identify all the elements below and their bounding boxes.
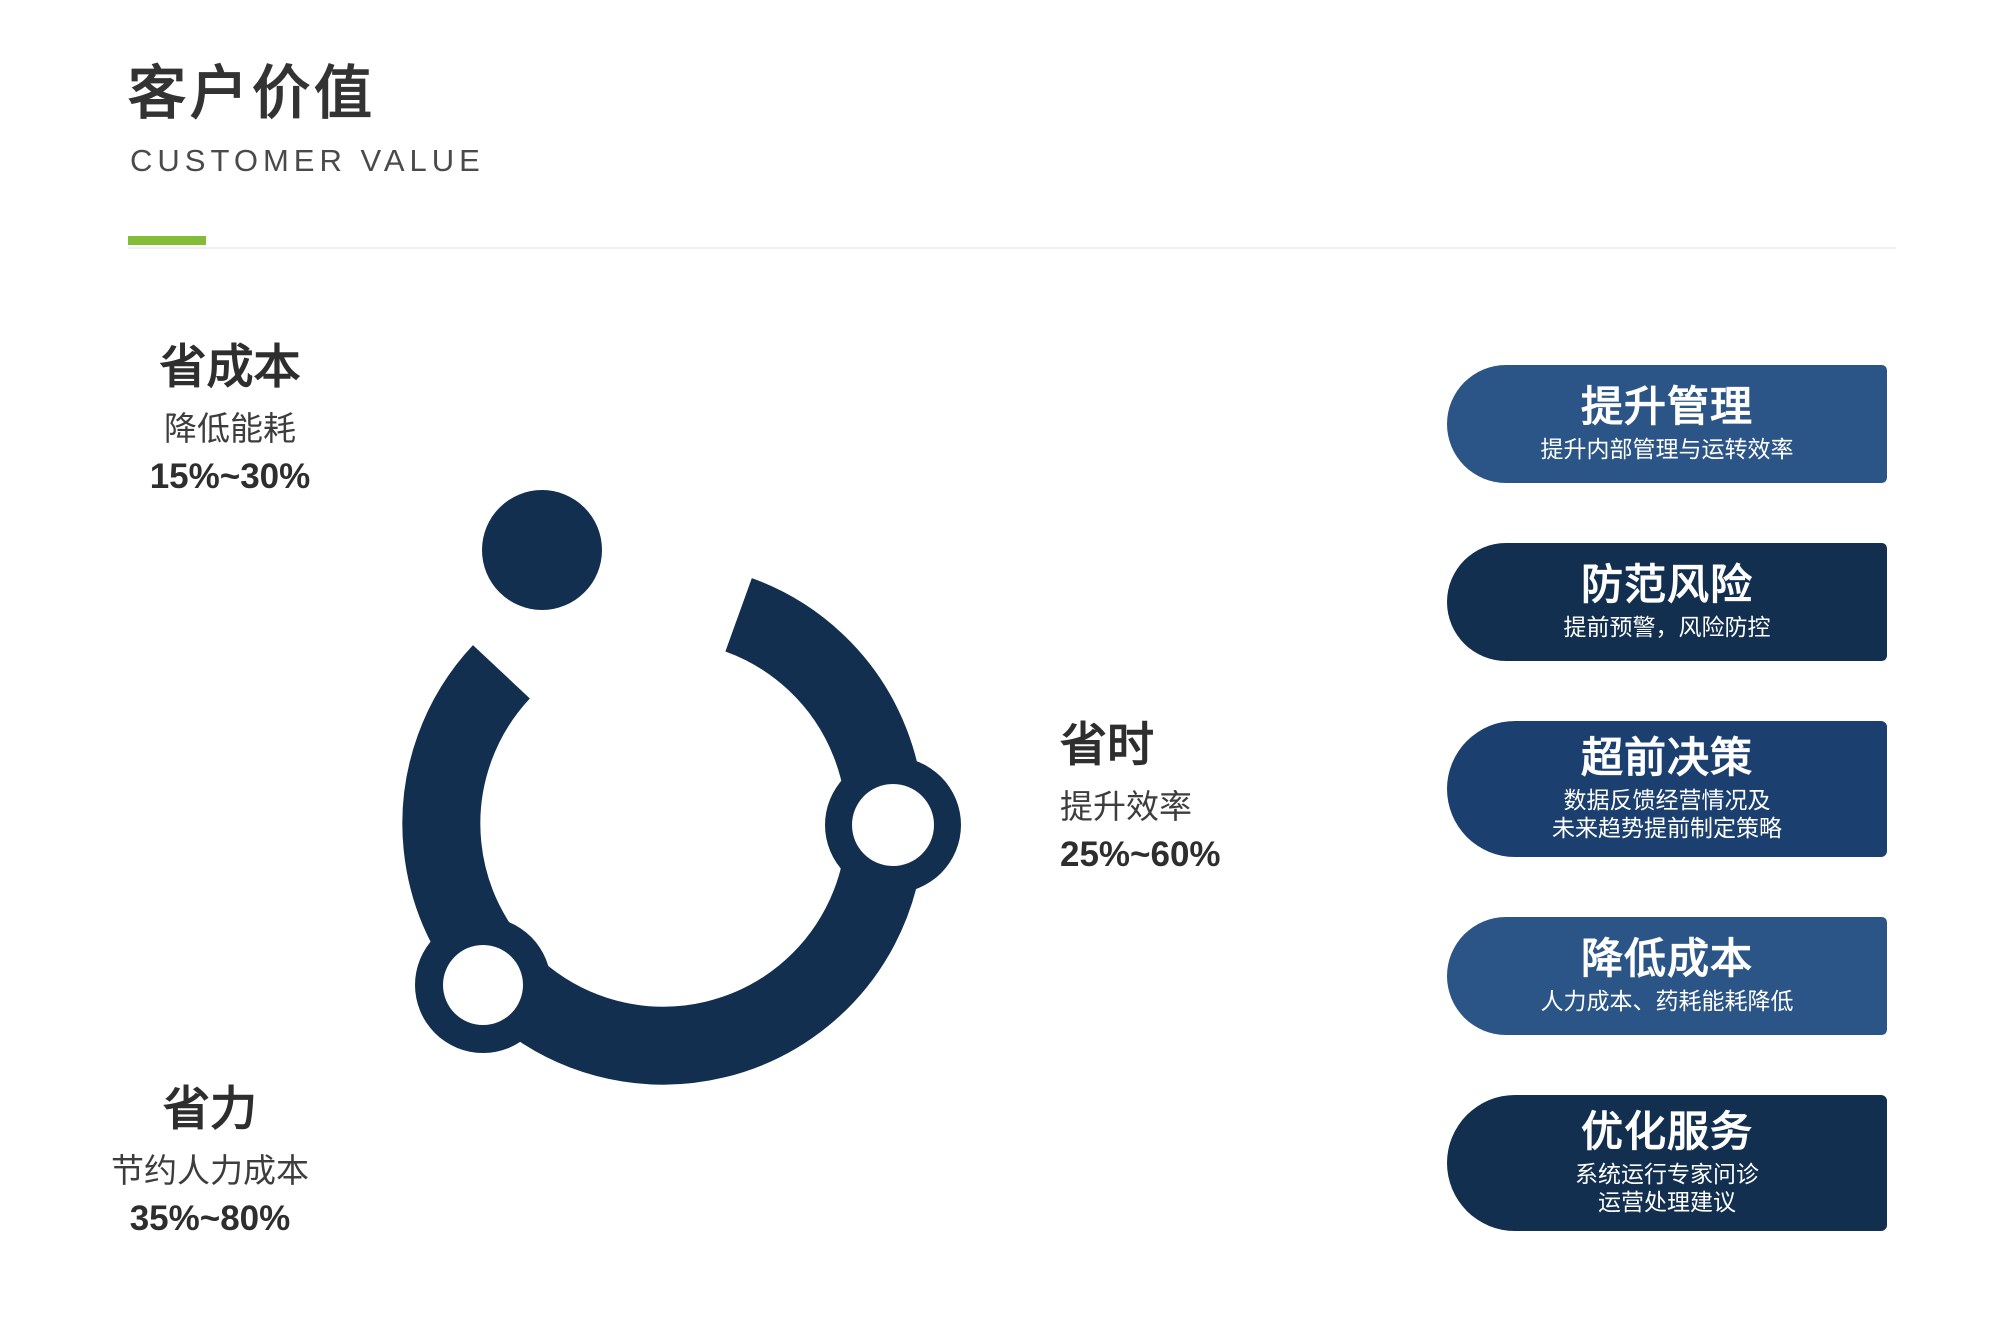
pill-gap (1447, 857, 1917, 917)
pill-optimize-service[interactable]: 优化服务 系统运行专家问诊 运营处理建议 (1447, 1095, 1887, 1231)
pill-advance-decision-title: 超前决策 (1581, 734, 1753, 782)
pill-gap (1447, 1035, 1917, 1095)
pill-improve-management-title: 提升管理 (1581, 383, 1753, 431)
callout-save-cost-subtitle: 降低能耗 (30, 408, 430, 451)
callout-save-labor-value: 35%~80% (10, 1197, 410, 1241)
page-header: 客户价值 CUSTOMER VALUE (128, 62, 888, 178)
node-top-left-dot (482, 490, 602, 610)
pill-optimize-service-sub1: 系统运行专家问诊 (1575, 1160, 1759, 1188)
header-accent-bar (128, 236, 206, 245)
pill-prevent-risk[interactable]: 防范风险 提前预警，风险防控 (1447, 543, 1887, 661)
node-right-hole (852, 784, 934, 866)
pill-optimize-service-sub2: 运营处理建议 (1598, 1188, 1736, 1216)
callout-save-labor-title: 省力 (10, 1082, 410, 1136)
cycle-ring-svg (380, 470, 1000, 1110)
pill-reduce-cost-title: 降低成本 (1581, 935, 1753, 983)
pill-improve-management[interactable]: 提升管理 提升内部管理与运转效率 (1447, 365, 1887, 483)
pill-advance-decision-sub2: 未来趋势提前制定策略 (1552, 814, 1782, 842)
slide-canvas: 客户价值 CUSTOMER VALUE 省成本 降低能耗 15%~30% 省时 … (0, 0, 2000, 1341)
pill-gap (1447, 661, 1917, 721)
pill-reduce-cost-sub1: 人力成本、药耗能耗降低 (1541, 987, 1794, 1015)
cycle-ring-diagram (380, 470, 1000, 1110)
callout-save-labor-subtitle: 节约人力成本 (10, 1150, 410, 1193)
callout-save-cost: 省成本 降低能耗 15%~30% (30, 340, 430, 499)
pill-advance-decision-sub1: 数据反馈经营情况及 (1564, 786, 1771, 814)
pill-gap (1447, 483, 1917, 543)
callout-save-labor: 省力 节约人力成本 35%~80% (10, 1082, 410, 1241)
callout-save-time-value: 25%~60% (1060, 833, 1400, 877)
pill-prevent-risk-title: 防范风险 (1581, 561, 1753, 609)
pill-reduce-cost[interactable]: 降低成本 人力成本、药耗能耗降低 (1447, 917, 1887, 1035)
callout-save-cost-value: 15%~30% (30, 455, 430, 499)
pill-optimize-service-title: 优化服务 (1581, 1108, 1753, 1156)
callout-save-time-title: 省时 (1060, 718, 1400, 772)
value-pill-list: 提升管理 提升内部管理与运转效率 防范风险 提前预警，风险防控 超前决策 数据反… (1447, 365, 1917, 1231)
pill-prevent-risk-sub1: 提前预警，风险防控 (1564, 613, 1771, 641)
callout-save-time-subtitle: 提升效率 (1060, 786, 1400, 829)
header-divider (128, 247, 1896, 249)
pill-advance-decision[interactable]: 超前决策 数据反馈经营情况及 未来趋势提前制定策略 (1447, 721, 1887, 857)
page-title: 客户价值 (128, 62, 888, 126)
node-bottom-left-hole (443, 945, 523, 1025)
callout-save-cost-title: 省成本 (30, 340, 430, 394)
pill-improve-management-sub1: 提升内部管理与运转效率 (1541, 435, 1794, 463)
page-subtitle: CUSTOMER VALUE (130, 144, 888, 178)
callout-save-time: 省时 提升效率 25%~60% (1060, 718, 1400, 877)
